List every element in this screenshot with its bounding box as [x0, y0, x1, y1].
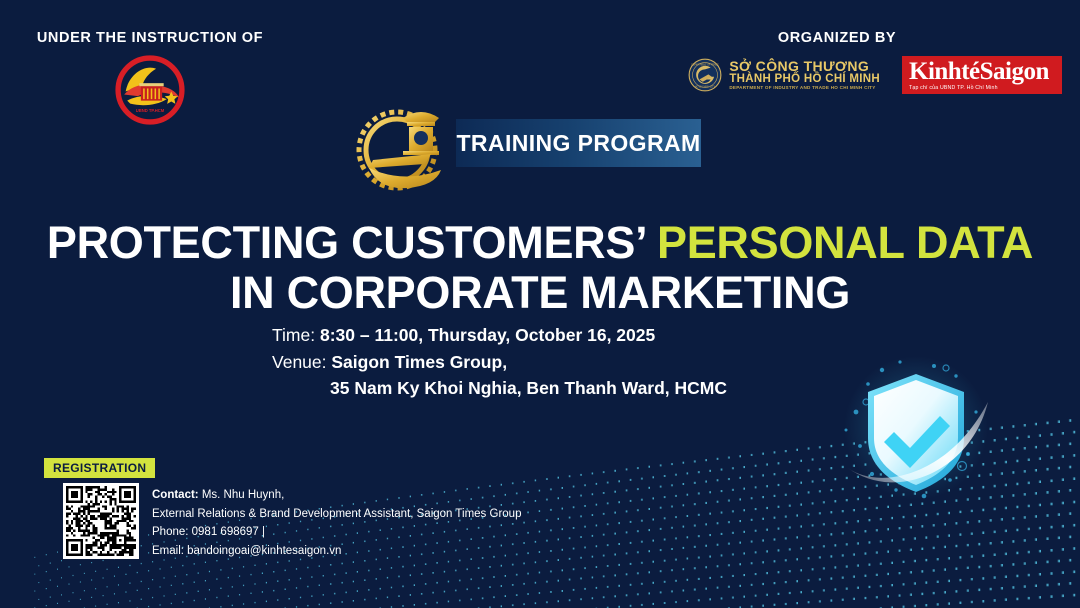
headline-line1-white: PROTECTING CUSTOMERS’ [47, 217, 657, 268]
hcmc-peoples-committee-emblem: UBND TP.HCM [112, 52, 188, 128]
kinhte-saigon-part1: Kinhté [909, 58, 980, 85]
department-of-industry-and-trade-logo: DEPARTMENT OF TRADE HO CHI MINH CITY SỞ … [688, 58, 880, 92]
training-program-label: TRAINING PROGRAM [456, 130, 700, 157]
department-line3: DEPARTMENT OF INDUSTRY AND TRADE HO CHI … [729, 86, 880, 91]
headline-line-2: IN CORPORATE MARKETING [0, 268, 1080, 318]
instruction-caption: UNDER THE INSTRUCTION OF [0, 30, 300, 46]
registration-block: Contact: Ms. Nhu Huynh, External Relatio… [63, 483, 521, 561]
event-time-line: Time: 8:30 – 11:00, Thursday, October 16… [272, 322, 727, 349]
kinhte-saigon-tagline: Tạp chí của UBND TP. Hồ Chí Minh [909, 85, 998, 91]
contact-role: External Relations & Brand Development A… [152, 505, 521, 524]
time-label: Time: [272, 325, 320, 345]
contact-name: Ms. Nhu Huynh, [199, 489, 285, 501]
department-seal-icon: DEPARTMENT OF TRADE HO CHI MINH CITY [688, 58, 722, 92]
registration-badge-label: REGISTRATION [53, 461, 146, 475]
kinhte-saigon-part2: Saigon [980, 58, 1049, 85]
status-badge: REGISTRATION [44, 458, 155, 478]
security-shield-checkmark [838, 350, 1018, 515]
registration-qr-code[interactable] [63, 483, 139, 559]
contact-name-line: Contact: Ms. Nhu Huynh, [152, 486, 521, 505]
organizers-block: ORGANIZED BY DEPARTMENT OF TRADE HO CHI … [682, 30, 1062, 94]
page-title: PROTECTING CUSTOMERS’ PERSONAL DATA IN C… [0, 218, 1080, 319]
headline-line1-accent: PERSONAL DATA [657, 217, 1033, 268]
contact-email: Email: bandoingoai@kinhtesaigon.vn [152, 542, 521, 561]
kinhte-saigon-logo: KinhtéSaigon Tạp chí của UBND TP. Hồ Chí… [902, 56, 1062, 94]
department-line1: SỞ CÔNG THƯƠNG [729, 59, 880, 74]
venue-label: Venue: [272, 352, 331, 372]
headline-line-1: PROTECTING CUSTOMERS’ PERSONAL DATA [0, 218, 1080, 268]
contact-info: Contact: Ms. Nhu Huynh, External Relatio… [152, 483, 521, 561]
training-program-bar: TRAINING PROGRAM [456, 119, 701, 167]
instruction-block: UNDER THE INSTRUCTION OF UBND TP.HCM [0, 30, 300, 128]
svg-text:UBND TP.HCM: UBND TP.HCM [136, 108, 165, 113]
promotional-banner: UNDER THE INSTRUCTION OF UBND TP.HCM ORG… [0, 0, 1080, 608]
organizers-caption: ORGANIZED BY [682, 30, 992, 46]
contact-label: Contact: [152, 489, 199, 501]
venue-value: Saigon Times Group, [331, 352, 507, 372]
saigon-times-gear-emblem [345, 88, 470, 198]
time-value: 8:30 – 11:00, Thursday, October 16, 2025 [320, 325, 655, 345]
training-program-badge: TRAINING PROGRAM [345, 88, 701, 198]
contact-phone: Phone: 0981 698697 | [152, 523, 521, 542]
kinhte-saigon-wordmark: KinhtéSaigon [909, 60, 1049, 84]
event-venue-address: 35 Nam Ky Khoi Nghia, Ben Thanh Ward, HC… [272, 375, 727, 402]
event-details: Time: 8:30 – 11:00, Thursday, October 16… [272, 322, 727, 402]
department-line2: THÀNH PHỐ HỒ CHÍ MINH [729, 73, 880, 85]
event-venue-line: Venue: Saigon Times Group, [272, 349, 727, 376]
